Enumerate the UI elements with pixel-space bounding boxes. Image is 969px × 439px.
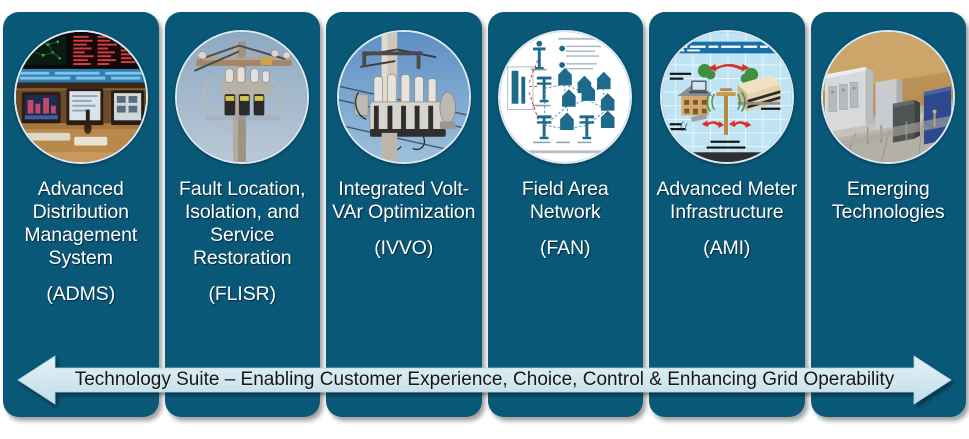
mesh-network-diagram [498,30,632,164]
panel-ami-abbr: (AMI) [653,237,801,260]
battery-storage-photo [821,30,955,164]
technology-suite-banner-label-wrap: Technology Suite – Enabling Customer Exp… [0,352,969,408]
panel-flisr-title: Fault Location, Isolation, and Service R… [179,178,305,269]
panel-ami-image-wrap [660,30,794,164]
panel-adms-abbr: (ADMS) [7,283,155,306]
panel-ami-title: Advanced Meter Infrastructure [656,178,797,223]
panel-ivvo-title: Integrated Volt-VAr Optimization [332,178,475,223]
panel-adms-image-wrap [14,30,148,164]
control-room-photo [14,30,148,164]
panel-flisr-image-wrap [175,30,309,164]
capacitor-bank-photo [337,30,471,164]
panel-ami-caption: Advanced Meter Infrastructure (AMI) [649,178,805,260]
panel-emerging-title: Emerging Technologies [832,178,945,223]
panel-fan-title: Field Area Network [522,178,609,223]
panel-fan-abbr: (FAN) [492,237,640,260]
panel-emerging-image-wrap [821,30,955,164]
ami-systems-diagram [660,30,794,164]
panel-flisr-abbr: (FLISR) [169,283,317,306]
panel-ivvo-image-wrap [337,30,471,164]
panel-adms-title: Advanced Distribution Management System [24,178,137,269]
panel-ivvo-caption: Integrated Volt-VAr Optimization (IVVO) [326,178,482,260]
panel-fan-image-wrap [498,30,632,164]
panel-adms-caption: Advanced Distribution Management System … [3,178,159,306]
panel-ivvo-abbr: (IVVO) [330,237,478,260]
panel-fan-caption: Field Area Network (FAN) [488,178,644,260]
panel-emerging-caption: Emerging Technologies [811,178,967,224]
panel-flisr-caption: Fault Location, Isolation, and Service R… [165,178,321,306]
technology-suite-diagram: Advanced Distribution Management System … [0,0,969,439]
utility-pole-recloser-photo [175,30,309,164]
technology-suite-banner-label: Technology Suite – Enabling Customer Exp… [75,369,895,391]
